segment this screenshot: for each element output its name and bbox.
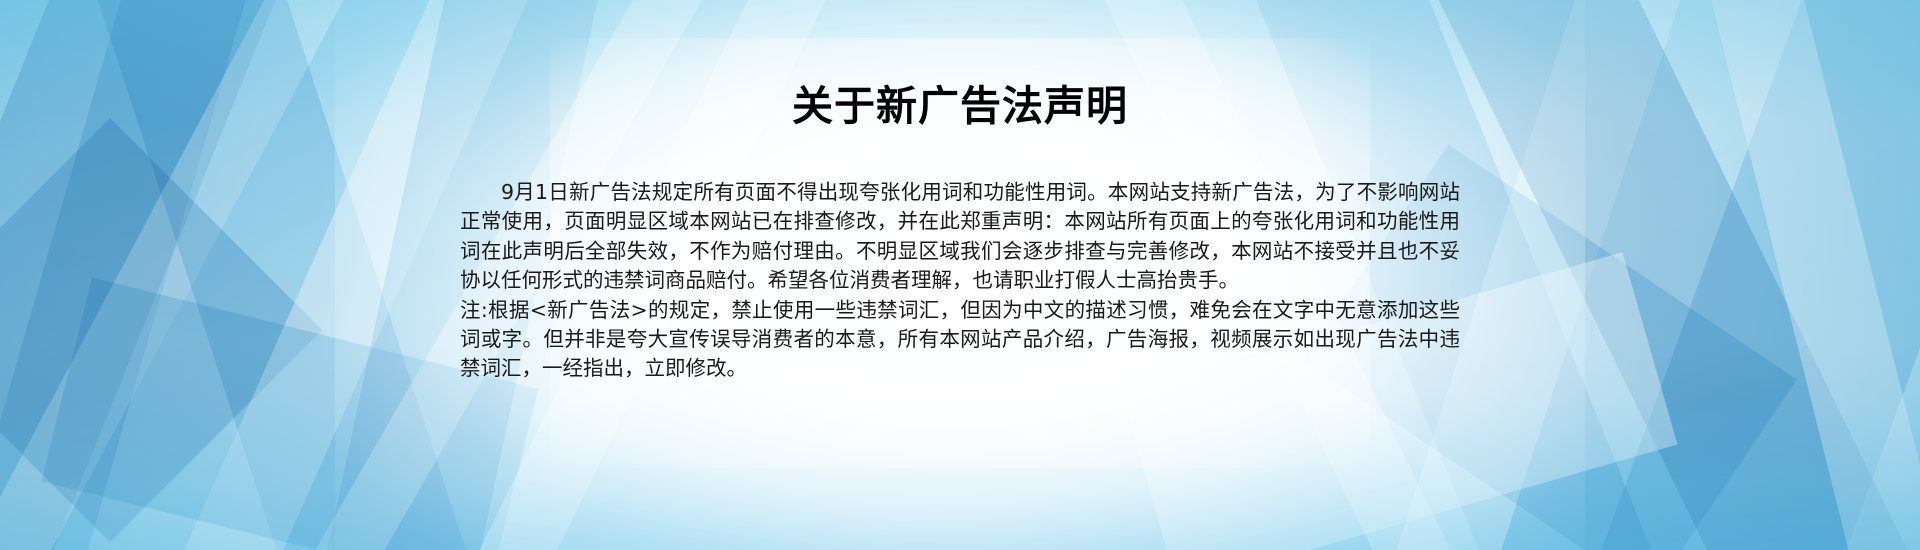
advertising-law-statement-banner: 关于新广告法声明 9月1日新广告法规定所有页面不得出现夸张化用词和功能性用词。本… xyxy=(0,0,1920,550)
statement-paragraph-note: 注:根据<新广告法>的规定，禁止使用一些违禁词汇，但因为中文的描述习惯，难免会在… xyxy=(460,296,1460,384)
statement-body: 9月1日新广告法规定所有页面不得出现夸张化用词和功能性用词。本网站支持新广告法，… xyxy=(460,178,1460,384)
statement-content: 关于新广告法声明 9月1日新广告法规定所有页面不得出现夸张化用词和功能性用词。本… xyxy=(0,0,1920,550)
statement-paragraph-main: 9月1日新广告法规定所有页面不得出现夸张化用词和功能性用词。本网站支持新广告法，… xyxy=(460,178,1460,296)
page-title: 关于新广告法声明 xyxy=(0,82,1920,131)
